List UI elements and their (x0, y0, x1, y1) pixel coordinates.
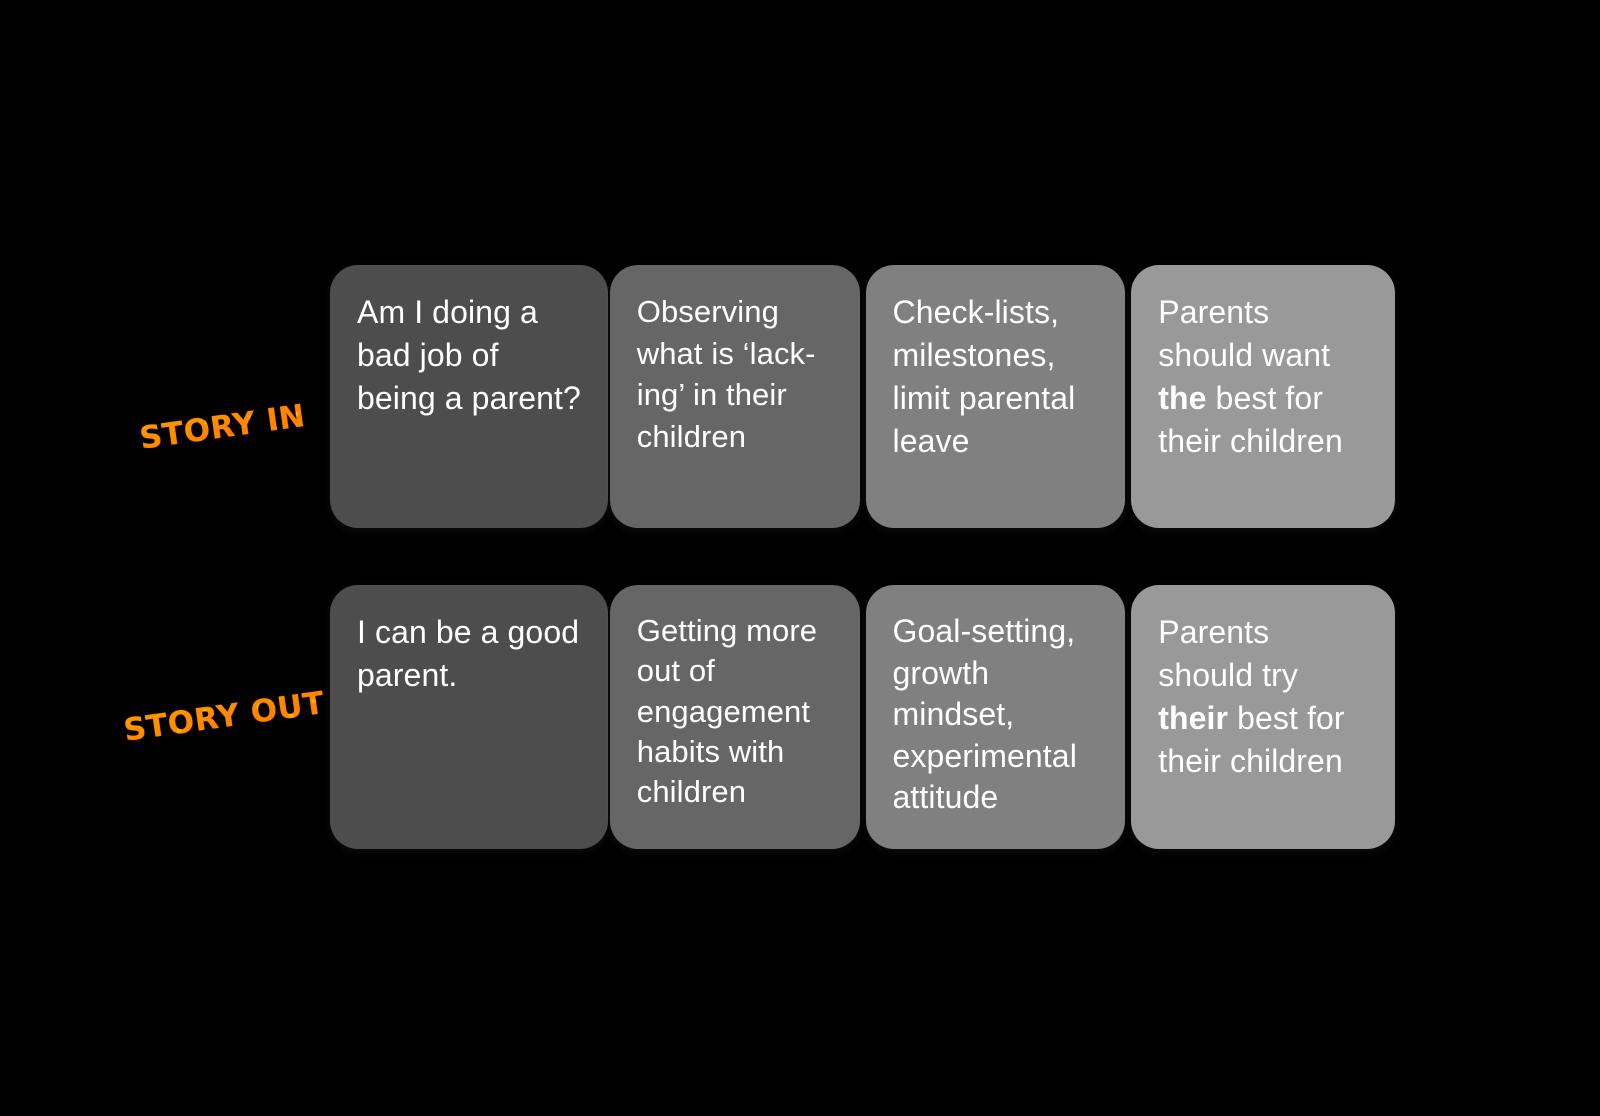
card-text-before: Parents should try (1158, 614, 1298, 693)
card-text: I can be a good parent. (357, 611, 584, 697)
card-text-emphasis: their (1158, 700, 1228, 736)
diagram-canvas: STORY IN Am I doing a bad job of being a… (0, 0, 1600, 1116)
card-row-story-in: Am I doing a bad job of being a parent? … (330, 265, 1395, 528)
card-text: Parents should try their best for their … (1158, 611, 1371, 783)
card-text: Check-lists, milestones, limit parental … (893, 291, 1102, 463)
card-text: Parents should want the best for their c… (1158, 291, 1371, 463)
card-story-in-1[interactable]: Am I doing a bad job of being a parent? (330, 265, 608, 528)
card-story-in-4[interactable]: Parents should want the best for their c… (1131, 265, 1395, 528)
card-text: Observing what is ‘lack-ing’ in their ch… (637, 291, 836, 458)
card-story-out-3[interactable]: Goal-setting, growth mindset, experiment… (866, 585, 1126, 849)
card-text: Getting more out of engagement habits wi… (637, 611, 836, 812)
card-story-out-1[interactable]: I can be a good parent. (330, 585, 608, 849)
card-story-in-3[interactable]: Check-lists, milestones, limit parental … (866, 265, 1126, 528)
card-row-story-out: I can be a good parent. Getting more out… (330, 585, 1395, 849)
card-story-out-2[interactable]: Getting more out of engagement habits wi… (610, 585, 860, 849)
card-text-before: Parents should want (1158, 294, 1330, 373)
card-text-emphasis: the (1158, 380, 1206, 416)
card-story-out-4[interactable]: Parents should try their best for their … (1131, 585, 1395, 849)
card-text: Am I doing a bad job of being a parent? (357, 291, 584, 420)
row-label-story-out: STORY OUT (122, 688, 327, 747)
row-label-story-in: STORY IN (138, 401, 307, 455)
card-text: Goal-setting, growth mindset, experiment… (893, 611, 1102, 819)
card-story-in-2[interactable]: Observing what is ‘lack-ing’ in their ch… (610, 265, 860, 528)
